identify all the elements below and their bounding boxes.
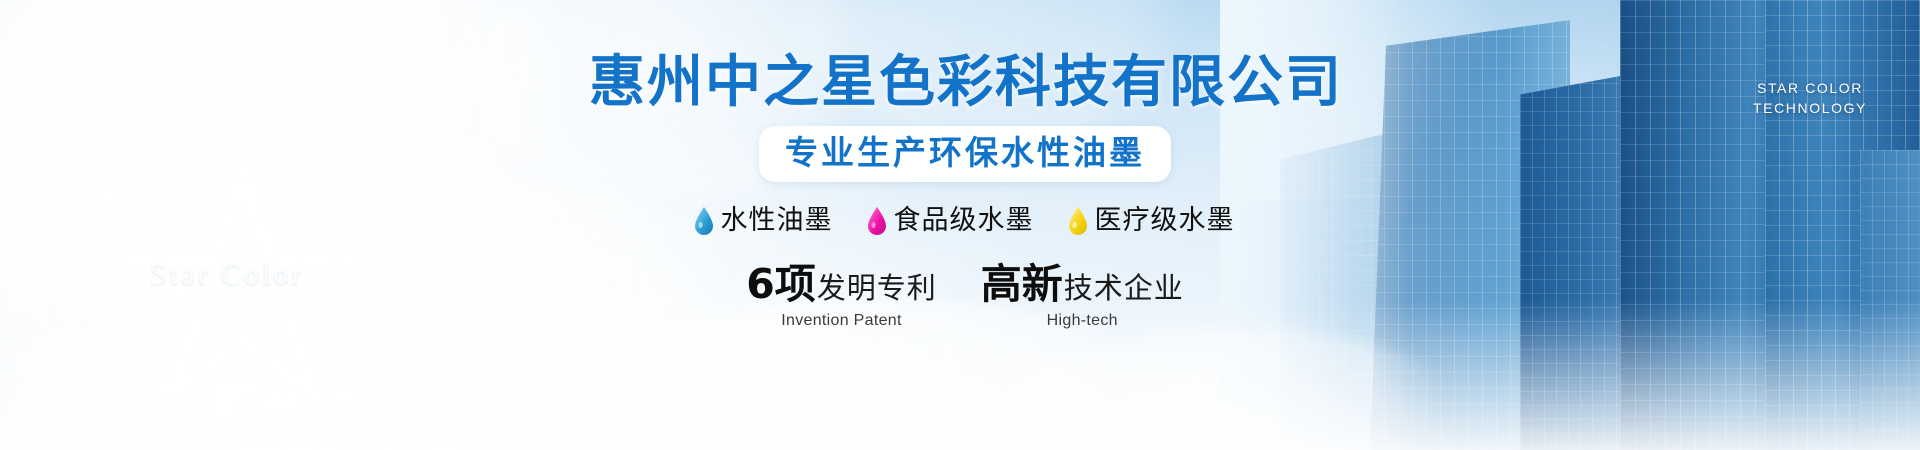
building-brand-line-2: TECHNOLOGY (1740, 98, 1880, 118)
water-drop-icon (694, 207, 714, 235)
feature-item: 医疗级水墨 (1068, 206, 1235, 236)
feature-label: 医疗级水墨 (1095, 206, 1235, 236)
credential-badge-label: 技术企业 (1064, 266, 1184, 310)
water-drop-icon (867, 207, 887, 235)
credential-badge-main: 高新 技术企业 (981, 262, 1184, 310)
credential-badge-list: 6项 发明专利 Invention Patent 高新 技术企业 High-te… (746, 262, 1184, 331)
tagline-pill: 专业生产环保水性油墨 (759, 126, 1171, 182)
feature-item: 水性油墨 (694, 206, 833, 236)
feature-label: 食品级水墨 (894, 206, 1034, 236)
watermark-text: Star Color (150, 258, 304, 292)
credential-badge-label: 发明专利 (817, 266, 937, 310)
credential-badge-subtitle: Invention Patent (746, 311, 937, 331)
star-icon (118, 168, 368, 418)
tagline-text: 专业生产环保水性油墨 (785, 133, 1145, 173)
credential-badge-highlight: 高新 (981, 262, 1063, 306)
product-feature-list: 水性油墨 食品级水墨 (694, 206, 1235, 236)
credential-badge-highlight: 6项 (746, 262, 816, 306)
credential-badge: 高新 技术企业 High-tech (981, 262, 1184, 331)
water-drop-icon (1068, 207, 1088, 235)
credential-badge-main: 6项 发明专利 (746, 262, 937, 310)
credential-badge-subtitle: High-tech (981, 311, 1184, 331)
feature-label: 水性油墨 (721, 206, 833, 236)
credential-badge: 6项 发明专利 Invention Patent (746, 262, 937, 331)
promotional-banner: STAR COLOR TECHNOLOGY Star Color 惠州中之星色彩… (0, 0, 1920, 450)
building-brand-label: STAR COLOR TECHNOLOGY (1740, 78, 1880, 118)
feature-item: 食品级水墨 (867, 206, 1034, 236)
building-brand-line-1: STAR COLOR (1740, 78, 1880, 98)
company-name-heading: 惠州中之星色彩科技有限公司 (589, 52, 1343, 114)
